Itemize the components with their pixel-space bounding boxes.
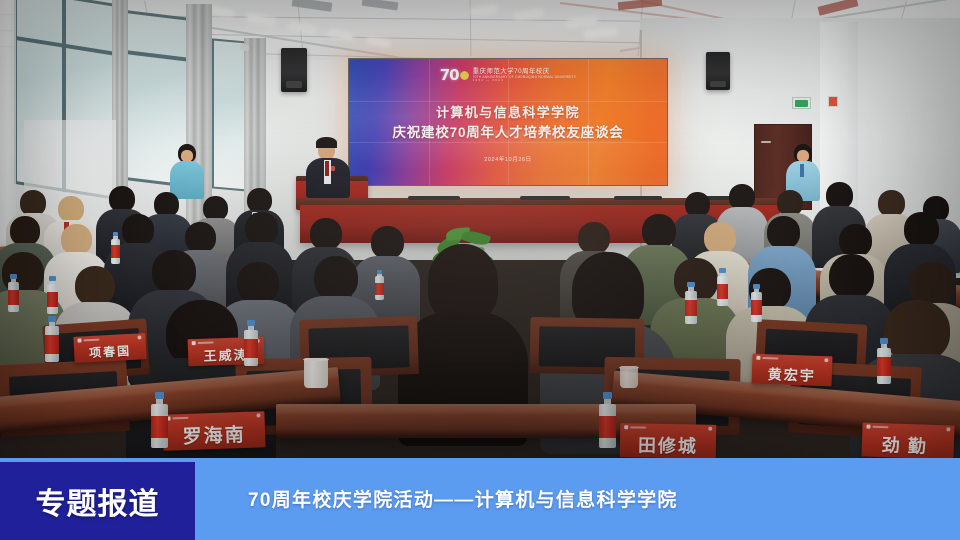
nameplate: 项春国 [73,333,146,363]
water-bottle [876,338,892,384]
exit-sign-icon [792,97,811,109]
nameplate-name: 项春国 [89,345,132,362]
wall-speaker-left [281,48,307,92]
water-bottle [716,268,729,306]
led-backdrop-screen: 70 重庆师范大学70周年校庆 70TH ANNIVERSARY OF CHON… [348,58,668,186]
banner-tag-label: 专题报道 [36,479,160,523]
led-date: 2024年10月26日 [349,155,667,163]
lower-third-banner: 专题报道 70周年校庆学院活动——计算机与信息科学学院 [0,456,960,540]
water-bottle [684,282,698,324]
table-microphone [408,196,460,200]
water-bottle [44,316,60,362]
table-microphone [520,196,570,200]
wall-speaker-right [706,52,730,90]
water-bottle [150,392,169,448]
banner-tag-box: 专题报道 [0,462,195,540]
led-headline-1: 计算机与信息科学学院 [349,102,667,121]
led-headline-2: 庆祝建校70周年人才培养校友座谈会 [349,121,667,141]
water-bottle [598,392,617,448]
wall-notice-sign [828,96,838,107]
nameplate: 罗海南 [162,411,265,451]
logo-years: 1954 — 2024 [473,79,577,82]
water-bottle [374,270,385,300]
window-pane [212,38,248,191]
water-bottle [750,284,763,322]
nameplate-name: 罗海南 [182,426,246,450]
banner-title: 70周年校庆学院活动——计算机与信息科学学院 [248,456,678,540]
anniversary-logo: 70 重庆师范大学70周年校庆 70TH ANNIVERSARY OF CHON… [349,68,667,83]
security-camera-icon [240,44,249,51]
nameplate: 田修城 [620,423,717,459]
logo-70-mark: 70 [440,68,459,83]
guest [170,144,204,198]
water-bottle [110,232,121,264]
nameplate: 劲勤 [861,422,954,459]
water-bottle [7,274,20,312]
water-bottle [243,320,259,366]
nameplate-name: 黄宏宇 [767,367,816,386]
water-bottle [46,276,59,314]
table-microphone [614,196,662,200]
presenter-at-podium [306,140,350,198]
logo-seal-icon [460,71,469,80]
screenshot-root: 70 重庆师范大学70周年校庆 70TH ANNIVERSARY OF CHON… [0,0,960,540]
paper-cup [620,366,638,388]
nameplate: 黄宏宇 [752,354,833,387]
paper-cup [304,358,328,388]
